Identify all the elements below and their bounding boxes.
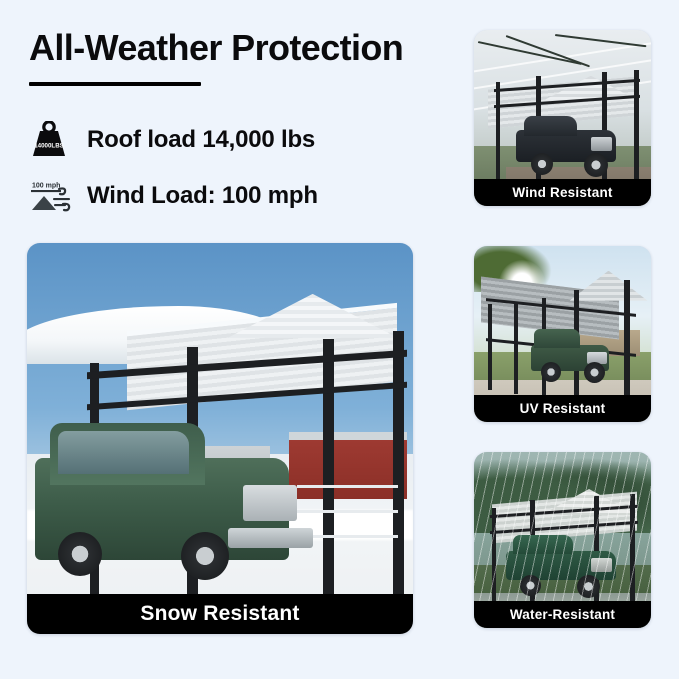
spec-list: 14000LBS Roof load 14,000 lbs 100 mph Wi…: [29, 112, 449, 224]
snow-truck-bumper: [228, 528, 313, 548]
panel-water-caption: Water-Resistant: [474, 601, 651, 628]
panel-uv-caption: UV Resistant: [474, 395, 651, 422]
wind-truck-wheel: [584, 153, 608, 177]
snow-carport-post: [323, 339, 334, 614]
panel-wind-resistant[interactable]: Wind Resistant: [474, 30, 651, 206]
uv-carport-post: [514, 302, 518, 394]
spec-row-wind-load: 100 mph Wind Load: 100 mph: [29, 168, 449, 224]
snow-truck-windshield: [58, 431, 189, 474]
header: All-Weather Protection: [29, 28, 449, 86]
uv-truck-wheel: [584, 362, 605, 383]
snow-truck-grille: [243, 485, 297, 520]
uv-carport-post: [624, 280, 630, 398]
uv-carport-post: [488, 304, 492, 390]
snow-carport-post: [393, 331, 404, 601]
snow-scene-image: [27, 243, 413, 634]
spec-text-roof-load: Roof load 14,000 lbs: [87, 126, 315, 154]
panel-snow-resistant[interactable]: Snow Resistant: [27, 243, 413, 634]
spec-row-roof-load: 14000LBS Roof load 14,000 lbs: [29, 112, 449, 168]
panel-uv-resistant[interactable]: UV Resistant: [474, 246, 651, 422]
wind-icon: 100 mph: [29, 179, 77, 213]
snow-truck-wheel: [58, 532, 102, 576]
panel-wind-caption: Wind Resistant: [474, 179, 651, 206]
page-title: All-Weather Protection: [29, 28, 449, 68]
weight-icon-wrapper: 14000LBS: [29, 121, 87, 159]
wind-icon-label: 100 mph: [32, 183, 60, 190]
wind-truck-wheel: [531, 153, 553, 175]
wind-truck-grille: [591, 137, 612, 151]
title-underline-rule: [29, 82, 201, 86]
weight-icon-label: 14000LBS: [34, 143, 64, 150]
weight-icon: 14000LBS: [29, 121, 69, 159]
uv-truck-cab: [534, 329, 580, 348]
panel-snow-caption: Snow Resistant: [27, 594, 413, 634]
wind-carport-post: [634, 70, 639, 182]
wind-icon-wrapper: 100 mph: [29, 179, 87, 213]
spec-text-wind-load: Wind Load: 100 mph: [87, 182, 318, 210]
wind-carport-post: [496, 82, 500, 187]
wind-truck-cab: [524, 116, 577, 135]
panel-water-resistant[interactable]: Water-Resistant: [474, 452, 651, 628]
